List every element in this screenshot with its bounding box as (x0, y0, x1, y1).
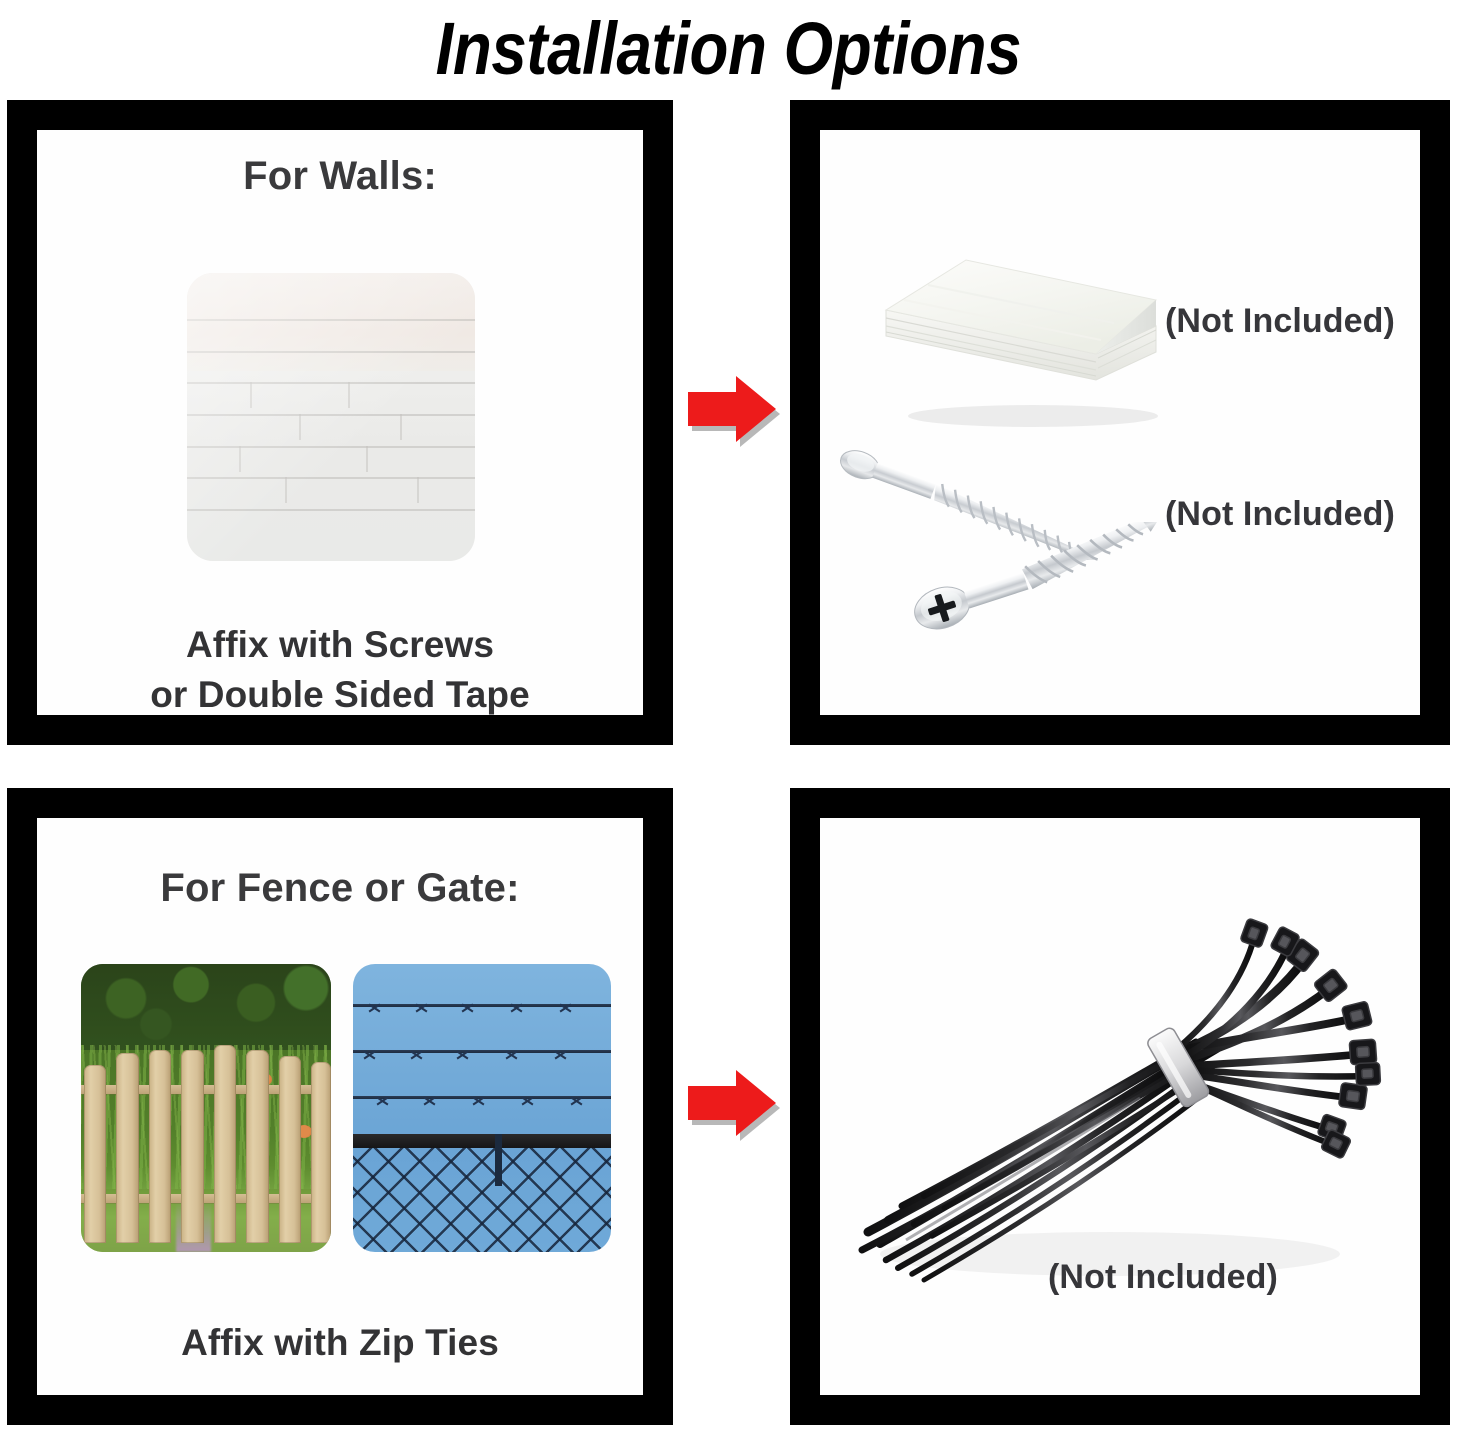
fence-picket (84, 1065, 107, 1244)
barbed-wire-strand (353, 1050, 611, 1053)
for-fence-heading: For Fence or Gate: (37, 866, 643, 911)
for-fence-caption: Affix with Zip Ties (37, 1318, 643, 1368)
page-title: Installation Options (436, 12, 1021, 86)
chain-link-scene (353, 964, 611, 1252)
white-brick-wall-image (187, 273, 475, 561)
fence-picket (246, 1050, 269, 1243)
panel-hardware-content: (Not Included) (820, 130, 1420, 715)
fence-picket (311, 1062, 331, 1243)
fence-top-rail (353, 1134, 611, 1148)
barb (410, 1048, 423, 1061)
panel-for-fence-content: For Fence or Gate: (37, 818, 643, 1395)
arrow-right-icon-bottom (688, 1068, 784, 1148)
chain-link-mesh (353, 1148, 611, 1252)
barb (415, 1001, 428, 1014)
picket-fence-scene (81, 964, 331, 1252)
for-walls-heading: For Walls: (37, 154, 643, 199)
panel-hardware: (Not Included) (790, 100, 1450, 745)
wood-screw-image-bottom (896, 522, 1206, 652)
zip-ties-image (840, 902, 1400, 1302)
barb (521, 1094, 534, 1107)
arrow-right-icon-top (688, 374, 784, 454)
zip-ties-not-included-label: (Not Included) (1048, 1258, 1278, 1297)
fence-picket (116, 1053, 139, 1243)
for-walls-caption-line-2: or Double Sided Tape (37, 670, 643, 720)
barb (554, 1048, 567, 1061)
fence-picket (279, 1056, 302, 1243)
barb (368, 1001, 381, 1014)
page-title-bar: Installation Options (0, 0, 1457, 98)
panel-for-walls: For Walls: Affix with Screws or Double S… (7, 100, 673, 745)
barb (505, 1048, 518, 1061)
panel-zip-ties-content: (Not Included) (820, 818, 1420, 1395)
tape-not-included-label: (Not Included) (1165, 302, 1395, 341)
barb (510, 1001, 523, 1014)
picket-fence-photo (81, 964, 331, 1252)
barb (570, 1094, 583, 1107)
brick-highlight (187, 273, 475, 561)
barb (559, 1001, 572, 1014)
fence-hedge (81, 964, 331, 1050)
fence-picket (214, 1045, 237, 1244)
barb (363, 1048, 376, 1061)
barb (456, 1048, 469, 1061)
panel-zip-ties: (Not Included) (790, 788, 1450, 1425)
barb (472, 1094, 485, 1107)
barb (376, 1094, 389, 1107)
panel-for-fence-or-gate: For Fence or Gate: (7, 788, 673, 1425)
fence-picket (149, 1050, 172, 1243)
fence-picket (181, 1050, 204, 1243)
barb (461, 1001, 474, 1014)
for-walls-caption-line-1: Affix with Screws (37, 620, 643, 670)
double-sided-tape-image (868, 240, 1178, 430)
screws-not-included-label: (Not Included) (1165, 495, 1395, 534)
fence-post (495, 1134, 502, 1186)
chain-link-fence-photo (353, 964, 611, 1252)
barb (423, 1094, 436, 1107)
panel-for-walls-content: For Walls: Affix with Screws or Double S… (37, 130, 643, 715)
